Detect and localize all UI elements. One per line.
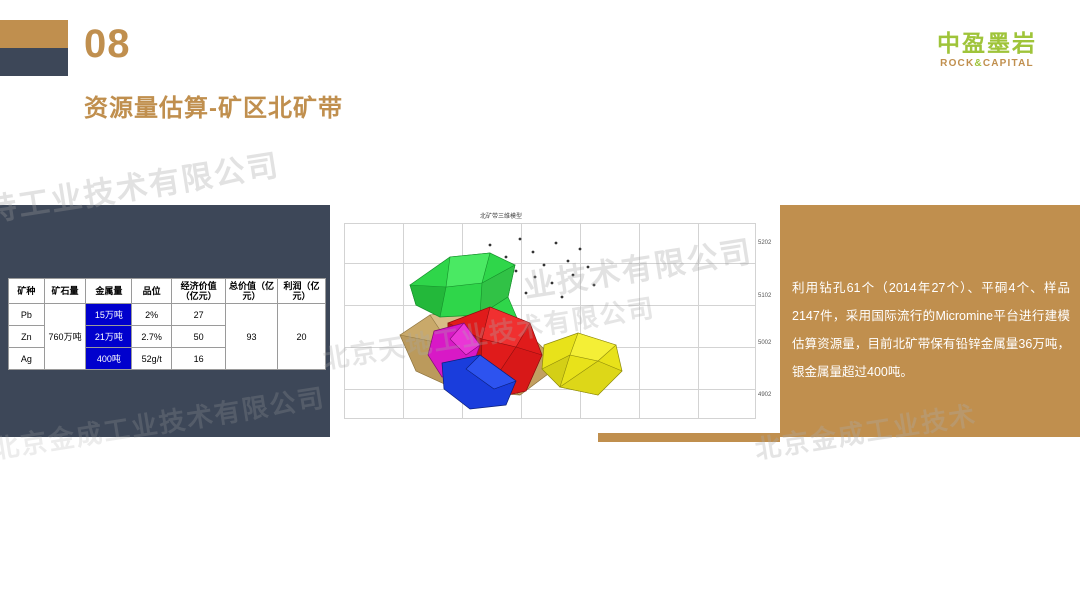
page-number: 08 (84, 20, 131, 68)
col-header-economic: 经济价值（亿元） (172, 279, 226, 304)
gold-underline-bar (598, 433, 780, 442)
cell-kind-zn: Zn (9, 326, 45, 348)
cell-profit: 20 (278, 304, 326, 370)
col-header-profit: 利润（亿元） (278, 279, 326, 304)
col-header-total: 总价值（亿元） (226, 279, 278, 304)
col-header-kind: 矿种 (9, 279, 45, 304)
cell-metal-ag: 400吨 (86, 348, 132, 370)
col-header-ore: 矿石量 (44, 279, 86, 304)
cell-total-value: 93 (226, 304, 278, 370)
col-header-grade: 品位 (132, 279, 172, 304)
cell-ore-quantity: 760万吨 (44, 304, 86, 370)
cell-economic-ag: 16 (172, 348, 226, 370)
panel-paragraph: 利用钻孔61个（2014年27个）、平硐4个、样品2147件，采用国际流行的Mi… (792, 274, 1070, 386)
logo-english-text: ROCK&CAPITAL (922, 58, 1052, 69)
cell-kind-ag: Ag (9, 348, 45, 370)
accent-block-navy (0, 48, 68, 76)
col-header-metal: 金属量 (86, 279, 132, 304)
cell-grade-pb: 2% (132, 304, 172, 326)
cell-grade-ag: 52g/t (132, 348, 172, 370)
table-row: Pb 760万吨 15万吨 2% 27 93 20 (9, 304, 326, 326)
logo-en-left: ROCK (940, 58, 974, 69)
logo-chinese-text: 中盈墨岩 (922, 30, 1052, 56)
orebody-yellow (542, 333, 622, 395)
cell-grade-zn: 2.7% (132, 326, 172, 348)
logo-ampersand-icon: & (974, 58, 982, 69)
accent-block-gold (0, 20, 68, 48)
logo-en-right: CAPITAL (983, 58, 1034, 69)
company-logo: 中盈墨岩 ROCK&CAPITAL (922, 30, 1052, 69)
cell-economic-pb: 27 (172, 304, 226, 326)
cell-kind-pb: Pb (9, 304, 45, 326)
orebody-wireframe-svg (330, 205, 780, 451)
table-header-row: 矿种 矿石量 金属量 品位 经济价值（亿元） 总价值（亿元） 利润（亿元） (9, 279, 326, 304)
orebody-3d-model-area: 北矿带三维模型 5202 5102 5002 4902 (330, 205, 780, 451)
left-band-footer (0, 437, 330, 451)
cell-economic-zn: 50 (172, 326, 226, 348)
resource-estimate-table: 矿种 矿石量 金属量 品位 经济价值（亿元） 总价值（亿元） 利润（亿元） Pb… (8, 278, 326, 370)
page-title: 资源量估算-矿区北矿带 (84, 88, 343, 123)
cell-metal-zn: 21万吨 (86, 326, 132, 348)
resource-table-wrapper: 矿种 矿石量 金属量 品位 经济价值（亿元） 总价值（亿元） 利润（亿元） Pb… (8, 278, 326, 370)
cell-metal-pb: 15万吨 (86, 304, 132, 326)
